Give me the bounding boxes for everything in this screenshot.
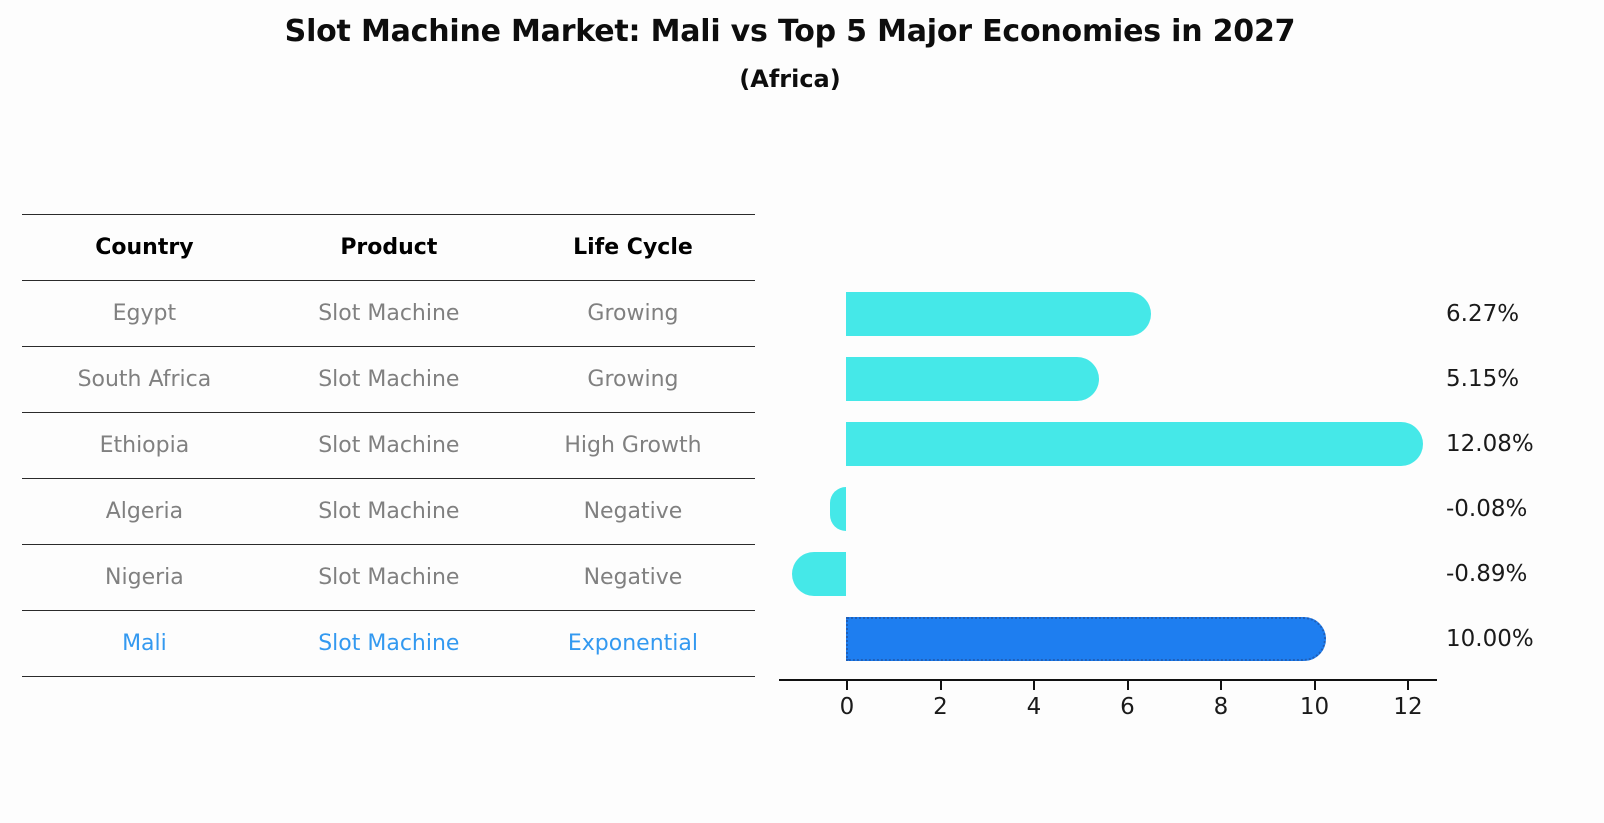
bar [792,552,846,596]
bar [846,357,1099,401]
bar-value-label: 5.15% [1446,366,1519,392]
bar-value-label: 6.27% [1446,301,1519,327]
column-header-product: Product [267,215,511,281]
bar [830,487,846,531]
x-tick-mark [1220,681,1222,690]
cell-country: Egypt [22,281,267,347]
cell-life-cycle: Negative [511,545,755,611]
cell-country: Mali [22,611,267,677]
cell-life-cycle: Growing [511,347,755,413]
x-tick-label: 6 [1120,694,1135,720]
bar [846,292,1151,336]
cell-product: Slot Machine [267,281,511,347]
table-header-row: Country Product Life Cycle [22,215,755,281]
cell-country: Ethiopia [22,413,267,479]
column-header-life-cycle: Life Cycle [511,215,755,281]
bar [846,422,1423,466]
x-tick-mark [1407,681,1409,690]
x-tick-mark [1314,681,1316,690]
table-body: Egypt Slot Machine Growing South Africa … [22,281,755,677]
x-tick-mark [1127,681,1129,690]
x-axis-line [779,679,1437,681]
cell-life-cycle: Negative [511,479,755,545]
x-tick-mark [846,681,848,690]
bar-highlighted [846,617,1326,661]
table-row: South Africa Slot Machine Growing [22,347,755,413]
cell-product: Slot Machine [267,545,511,611]
bar-value-label: -0.08% [1446,496,1527,522]
x-tick-mark [1033,681,1035,690]
cell-product: Slot Machine [267,413,511,479]
column-header-country: Country [22,215,267,281]
table-row: Ethiopia Slot Machine High Growth [22,413,755,479]
cell-country: Algeria [22,479,267,545]
country-table-wrapper: Country Product Life Cycle Egypt Slot Ma… [22,214,755,677]
cell-product: Slot Machine [267,479,511,545]
bar-value-label: 12.08% [1446,431,1534,457]
x-tick-label: 8 [1214,694,1229,720]
bar-value-label: 10.00% [1446,626,1534,652]
x-tick-label: 10 [1300,694,1329,720]
x-tick-mark [940,681,942,690]
cell-country: Nigeria [22,545,267,611]
title-block: Slot Machine Market: Mali vs Top 5 Major… [0,12,1580,95]
x-tick-label: 2 [933,694,948,720]
bar-value-label: -0.89% [1446,561,1527,587]
page-title: Slot Machine Market: Mali vs Top 5 Major… [0,12,1580,53]
cell-life-cycle: High Growth [511,413,755,479]
table-row: Egypt Slot Machine Growing [22,281,755,347]
x-tick-label: 12 [1393,694,1422,720]
table-row-highlighted: Mali Slot Machine Exponential [22,611,755,677]
page-subtitle: (Africa) [0,63,1580,95]
table-row: Algeria Slot Machine Negative [22,479,755,545]
table-header: Country Product Life Cycle [22,215,755,281]
cell-life-cycle: Exponential [511,611,755,677]
cell-life-cycle: Growing [511,281,755,347]
country-table: Country Product Life Cycle Egypt Slot Ma… [22,214,755,677]
x-tick-label: 0 [840,694,855,720]
cell-country: South Africa [22,347,267,413]
cell-product: Slot Machine [267,347,511,413]
cell-product: Slot Machine [267,611,511,677]
table-row: Nigeria Slot Machine Negative [22,545,755,611]
x-tick-label: 4 [1027,694,1042,720]
